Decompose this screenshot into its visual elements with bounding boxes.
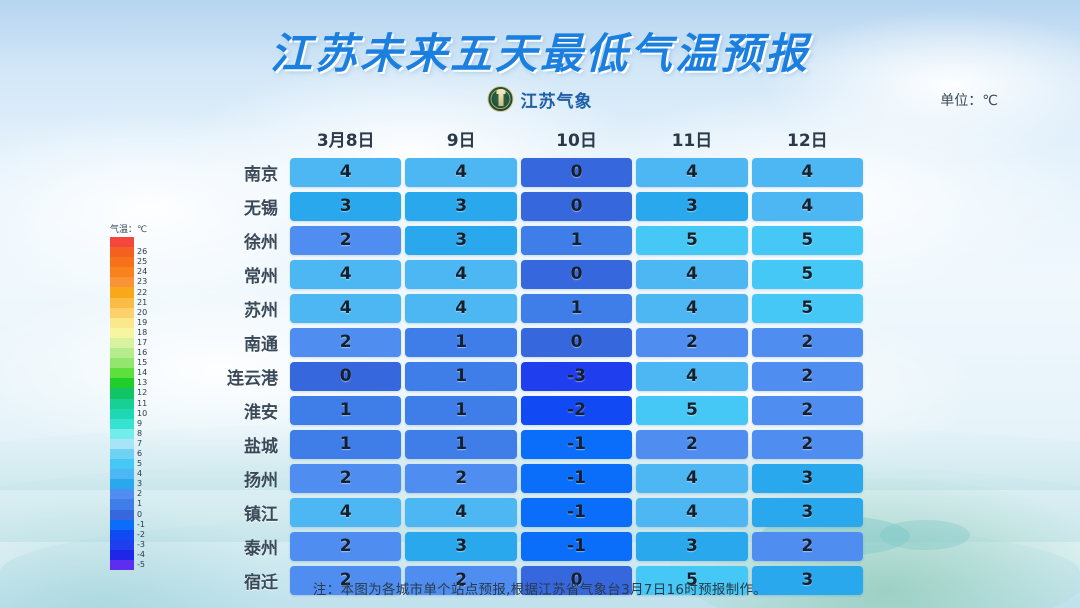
legend-stop: 4 [110,469,158,479]
legend-stop: 8 [110,429,158,439]
legend-stop: 26 [110,247,158,257]
temperature-cell: 4 [636,362,747,391]
legend-label: 16 [137,349,147,357]
org-logo: 江苏气象 [488,86,593,112]
legend-label: -4 [137,551,145,559]
temperature-cell: 4 [405,260,516,289]
legend-stop: 11 [110,399,158,409]
legend-label: 17 [137,339,147,347]
temperature-cell: 5 [636,226,747,255]
legend-stop: 1 [110,499,158,509]
temperature-cell: 1 [405,362,516,391]
temperature-cell: 4 [636,158,747,187]
legend-swatch [110,520,134,530]
legend-stop: 14 [110,368,158,378]
temperature-cell: 4 [636,498,747,527]
city-name: 泰州 [200,534,288,559]
legend-label: 3 [137,480,142,488]
legend-swatch [110,237,134,247]
legend-swatch [110,429,134,439]
city-name: 镇江 [200,500,288,525]
legend-label: 0 [137,511,142,519]
legend-label: 25 [137,258,147,266]
legend-stop: 9 [110,419,158,429]
temperature-cell: 1 [405,396,516,425]
temperature-cell: -2 [521,396,632,425]
legend-label: 21 [137,299,147,307]
legend-stop: -5 [110,560,158,570]
legend-stop: -3 [110,540,158,550]
legend-label: 1 [137,500,142,508]
city-name: 徐州 [200,228,288,253]
table-row: 连云港01-342 [200,360,865,392]
legend-label: 10 [137,410,147,418]
legend-label: -2 [137,531,145,539]
legend-stop: 15 [110,358,158,368]
legend-label: 22 [137,289,147,297]
legend-stop: 24 [110,267,158,277]
temperature-cell: -3 [521,362,632,391]
temperature-cell: 2 [290,532,401,561]
footnote: 注：本图为各城市单个站点预报,根据江苏省气象台3月7日16时预报制作。 [0,578,1080,598]
temperature-cell: 5 [636,396,747,425]
legend-label: 19 [137,319,147,327]
temperature-cell: -1 [521,532,632,561]
temperature-cell: 2 [636,328,747,357]
legend-swatch [110,378,134,388]
temperature-cell: 5 [752,260,863,289]
temperature-cell: 2 [752,328,863,357]
temperature-cell: 3 [752,498,863,527]
forecast-table: 3月8日9日10日11日12日 南京44044无锡33034徐州23155常州4… [200,126,865,598]
legend-swatch [110,338,134,348]
legend-stop: 2 [110,489,158,499]
legend-swatch [110,479,134,489]
temperature-cell: 2 [290,226,401,255]
legend-stop: 12 [110,388,158,398]
city-name: 盐城 [200,432,288,457]
legend-label: 24 [137,268,147,276]
temperature-cell: 3 [636,192,747,221]
city-name: 连云港 [200,364,288,389]
temperature-cell: 4 [290,294,401,323]
temperature-cell: 1 [290,396,401,425]
legend-swatch [110,419,134,429]
legend-label: 23 [137,278,147,286]
temperature-cell: 0 [521,192,632,221]
temperature-cell: 4 [405,158,516,187]
legend-stop: 17 [110,338,158,348]
city-header-spacer [200,126,288,156]
legend-stop: 19 [110,318,158,328]
table-row: 无锡33034 [200,190,865,222]
legend-swatch [110,388,134,398]
legend-stop: 25 [110,257,158,267]
city-name: 苏州 [200,296,288,321]
logo-row: 江苏气象 [0,86,1080,116]
legend-stop: 6 [110,449,158,459]
legend-swatch [110,257,134,267]
temperature-cell: 1 [405,430,516,459]
legend-label: 20 [137,309,147,317]
temperature-cell: 0 [290,362,401,391]
legend-label: 26 [137,248,147,256]
legend-label: 14 [137,369,147,377]
table-row: 苏州44145 [200,292,865,324]
temperature-cell: 1 [290,430,401,459]
legend-swatch [110,489,134,499]
temperature-cell: 4 [405,498,516,527]
legend-label: -3 [137,541,145,549]
temperature-cell: 4 [752,192,863,221]
legend-label: 2 [137,490,142,498]
legend-swatch [110,267,134,277]
legend-swatch [110,530,134,540]
temperature-cell: 0 [521,260,632,289]
legend-swatch [110,298,134,308]
legend-label: 15 [137,359,147,367]
temperature-cell: 3 [752,464,863,493]
legend-swatch [110,287,134,297]
temperature-cell: 2 [752,396,863,425]
temperature-cell: 4 [636,294,747,323]
temperature-cell: 4 [636,464,747,493]
column-header-5: 12日 [750,126,865,156]
legend-stop: 16 [110,348,158,358]
legend-swatch [110,348,134,358]
legend-title: 气温：℃ [110,222,158,235]
table-row: 淮安11-252 [200,394,865,426]
legend-swatch [110,510,134,520]
weather-bureau-emblem-icon [488,86,514,112]
legend-swatch [110,499,134,509]
temperature-cell: 2 [290,328,401,357]
temperature-cell: 3 [290,192,401,221]
column-header-3: 10日 [519,126,634,156]
temperature-cell: 3 [405,192,516,221]
legend-label: 9 [137,420,142,428]
table-row: 镇江44-143 [200,496,865,528]
temperature-cell: 2 [636,430,747,459]
legend-swatch [110,540,134,550]
temperature-cell: 4 [290,260,401,289]
legend-label: 8 [137,430,142,438]
table-body: 南京44044无锡33034徐州23155常州44045苏州44145南通210… [200,156,865,596]
legend-scale: 2625242322212019181716151413121110987654… [110,237,158,570]
temperature-cell: 4 [290,498,401,527]
legend-swatch [110,247,134,257]
legend-label: 12 [137,389,147,397]
unit-label: 单位：℃ [940,90,998,110]
temperature-cell: -1 [521,464,632,493]
city-name: 常州 [200,262,288,287]
temperature-cell: -1 [521,498,632,527]
legend-stop: 0 [110,510,158,520]
temperature-cell: 0 [521,328,632,357]
legend-label: 11 [137,400,147,408]
legend-swatch [110,328,134,338]
legend-label: 7 [137,440,142,448]
legend-label: -1 [137,521,145,529]
legend-stop: -2 [110,530,158,540]
legend-stop [110,237,158,247]
legend-swatch [110,308,134,318]
temperature-cell: 4 [290,158,401,187]
legend-swatch [110,560,134,570]
temperature-cell: 4 [636,260,747,289]
temperature-cell: 3 [636,532,747,561]
legend-stop: 7 [110,439,158,449]
temperature-cell: 2 [752,430,863,459]
city-name: 扬州 [200,466,288,491]
temperature-cell: 0 [521,158,632,187]
city-name: 南通 [200,330,288,355]
legend-stop: -4 [110,550,158,560]
table-row: 盐城11-122 [200,428,865,460]
city-name: 南京 [200,160,288,185]
legend-stop: 13 [110,378,158,388]
temperature-cell: 3 [405,532,516,561]
legend-swatch [110,318,134,328]
legend-swatch [110,409,134,419]
org-name: 江苏气象 [521,87,593,112]
column-header-1: 3月8日 [288,126,403,156]
legend-stop: 3 [110,479,158,489]
column-header-4: 11日 [634,126,749,156]
legend-stop: -1 [110,520,158,530]
column-header-2: 9日 [403,126,518,156]
legend-swatch [110,469,134,479]
legend-swatch [110,459,134,469]
legend-label: 18 [137,329,147,337]
temperature-cell: 5 [752,226,863,255]
legend-label: -5 [137,561,145,569]
legend-swatch [110,439,134,449]
city-name: 淮安 [200,398,288,423]
temperature-cell: 1 [521,294,632,323]
legend-swatch [110,449,134,459]
temperature-cell: 2 [290,464,401,493]
legend-stop: 10 [110,409,158,419]
legend-label: 6 [137,450,142,458]
temperature-cell: 2 [752,532,863,561]
page-title: 江苏未来五天最低气温预报 [0,20,1080,81]
temperature-cell: 3 [405,226,516,255]
legend-swatch [110,368,134,378]
table-row: 泰州23-132 [200,530,865,562]
poster: 江苏未来五天最低气温预报 江苏气象 单位：℃ 气温：℃ 262524232221… [0,0,1080,608]
legend-stop: 20 [110,308,158,318]
temperature-cell: 1 [521,226,632,255]
table-row: 扬州22-143 [200,462,865,494]
table-row: 常州44045 [200,258,865,290]
table-row: 南通21022 [200,326,865,358]
legend-stop: 21 [110,298,158,308]
table-header-row: 3月8日9日10日11日12日 [200,126,865,156]
legend-stop: 23 [110,277,158,287]
legend-swatch [110,399,134,409]
temperature-cell: 4 [752,158,863,187]
table-row: 南京44044 [200,156,865,188]
legend-label: 4 [137,470,142,478]
legend-stop: 5 [110,459,158,469]
temperature-cell: 4 [405,294,516,323]
temperature-cell: 1 [405,328,516,357]
legend-swatch [110,277,134,287]
temperature-cell: -1 [521,430,632,459]
legend-label: 5 [137,460,142,468]
legend-stop: 18 [110,328,158,338]
legend-swatch [110,358,134,368]
legend-label: 13 [137,379,147,387]
temperature-legend: 气温：℃ 26252423222120191817161514131211109… [110,222,158,570]
temperature-cell: 2 [405,464,516,493]
legend-stop: 22 [110,287,158,297]
temperature-cell: 2 [752,362,863,391]
table-row: 徐州23155 [200,224,865,256]
legend-swatch [110,550,134,560]
temperature-cell: 5 [752,294,863,323]
city-name: 无锡 [200,194,288,219]
